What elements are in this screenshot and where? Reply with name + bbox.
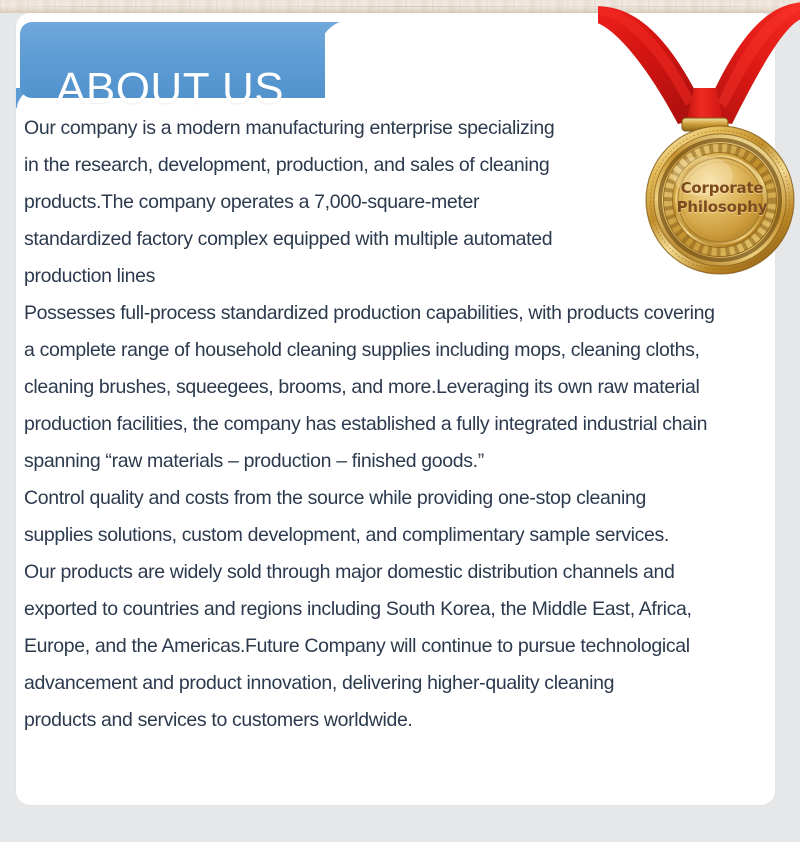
paragraph-line: in the research, development, production…: [24, 147, 654, 184]
paragraph-line: Europe, and the Americas.Future Company …: [24, 628, 776, 665]
paragraph-line: standardized factory complex equipped wi…: [24, 221, 654, 258]
paragraph-line: production lines: [24, 258, 654, 295]
award-medal-icon: [598, 0, 800, 280]
paragraph-3: Control quality and costs from the sourc…: [24, 480, 776, 739]
paragraph-line: production facilities, the company has e…: [24, 406, 776, 443]
paragraph-line: products.The company operates a 7,000-sq…: [24, 184, 654, 221]
paragraph-line: Our products are widely sold through maj…: [24, 554, 776, 591]
medal-label-line-2: Philosophy: [666, 198, 778, 217]
paragraph-line: exported to countries and regions includ…: [24, 591, 776, 628]
paragraph-2: Possesses full-process standardized prod…: [24, 295, 776, 480]
paragraph-line: Possesses full-process standardized prod…: [24, 295, 776, 332]
paragraph-line: advancement and product innovation, deli…: [24, 665, 776, 702]
about-us-page: ABOUT US: [0, 0, 800, 842]
paragraph-line: supplies solutions, custom development, …: [24, 517, 776, 554]
medal-label: Corporate Philosophy: [666, 179, 778, 217]
paragraph-line: a complete range of household cleaning s…: [24, 332, 776, 369]
paragraph-line: Control quality and costs from the sourc…: [24, 480, 776, 517]
about-us-tab-sweep: [310, 22, 362, 98]
paragraph-line: spanning “raw materials – production – f…: [24, 443, 776, 480]
page-title: ABOUT US: [56, 62, 284, 116]
paragraph-line: cleaning brushes, squeegees, brooms, and…: [24, 369, 776, 406]
medal-label-line-1: Corporate: [666, 179, 778, 198]
paragraph-line: products and services to customers world…: [24, 702, 776, 739]
